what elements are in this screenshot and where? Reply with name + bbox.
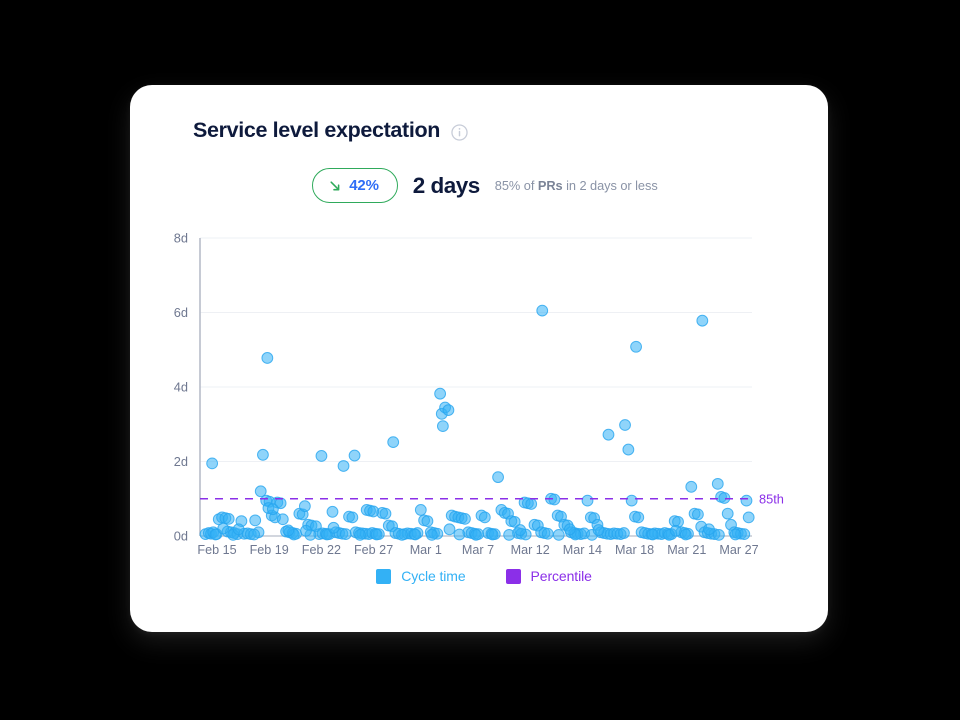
scatter-point[interactable] xyxy=(730,529,741,540)
scatter-point[interactable] xyxy=(340,529,351,540)
scatter-point[interactable] xyxy=(619,528,630,539)
scatter-point[interactable] xyxy=(493,472,504,483)
scatter-point[interactable] xyxy=(686,481,697,492)
legend-label-percentile: Percentile xyxy=(531,568,592,584)
x-axis-tick-label: Mar 12 xyxy=(511,543,550,557)
x-axis-tick-label: Mar 1 xyxy=(410,543,442,557)
scatter-point[interactable] xyxy=(582,495,593,506)
scatter-point[interactable] xyxy=(626,495,637,506)
scatter-point[interactable] xyxy=(207,458,218,469)
scatter-point[interactable] xyxy=(327,506,338,517)
scatter-point[interactable] xyxy=(460,513,471,524)
scatter-point[interactable] xyxy=(262,353,273,364)
scatter-point[interactable] xyxy=(277,514,288,525)
scatter-point[interactable] xyxy=(283,525,294,536)
slе-card: Service level expectation 42% 2 days 85%… xyxy=(130,85,828,632)
x-axis-tick-label: Feb 22 xyxy=(302,543,341,557)
scatter-point[interactable] xyxy=(422,516,433,527)
scatter-point[interactable] xyxy=(471,529,482,540)
scatter-point[interactable] xyxy=(553,529,564,540)
scatter-point[interactable] xyxy=(299,501,310,512)
scatter-point[interactable] xyxy=(722,508,733,519)
scatter-point[interactable] xyxy=(670,525,681,536)
scatter-point[interactable] xyxy=(743,512,754,523)
scatter-point[interactable] xyxy=(537,305,548,316)
y-axis-tick-label: 0d xyxy=(174,529,188,544)
scatter-point[interactable] xyxy=(388,437,399,448)
y-axis-tick-label: 4d xyxy=(174,380,188,395)
screen-root: Service level expectation 42% 2 days 85%… xyxy=(0,0,960,720)
scatter-chart: 0d2d4d6d8dFeb 15Feb 19Feb 22Feb 27Mar 1M… xyxy=(130,85,828,632)
scatter-point[interactable] xyxy=(316,451,327,462)
scatter-point[interactable] xyxy=(355,529,366,540)
x-axis-tick-label: Mar 27 xyxy=(719,543,758,557)
scatter-point[interactable] xyxy=(338,461,349,472)
scatter-point[interactable] xyxy=(713,529,724,540)
x-axis-tick-label: Feb 27 xyxy=(354,543,393,557)
chart-svg: 0d2d4d6d8dFeb 15Feb 19Feb 22Feb 27Mar 1M… xyxy=(130,85,828,632)
legend-item-cycle-time[interactable]: Cycle time xyxy=(376,568,465,584)
scatter-point[interactable] xyxy=(410,529,421,540)
chart-legend: Cycle time Percentile xyxy=(130,568,828,584)
scatter-point[interactable] xyxy=(435,388,446,399)
scatter-point[interactable] xyxy=(603,429,614,440)
scatter-point[interactable] xyxy=(443,405,454,416)
scatter-point[interactable] xyxy=(249,529,260,540)
scatter-point[interactable] xyxy=(218,523,229,534)
scatter-point[interactable] xyxy=(697,315,708,326)
scatter-point[interactable] xyxy=(479,512,490,523)
scatter-point[interactable] xyxy=(564,524,575,535)
scatter-point[interactable] xyxy=(223,513,234,524)
scatter-point[interactable] xyxy=(415,505,426,516)
legend-swatch-cycle-time xyxy=(376,569,391,584)
scatter-point[interactable] xyxy=(444,524,455,535)
x-axis-tick-label: Mar 18 xyxy=(615,543,654,557)
y-axis-tick-label: 2d xyxy=(174,454,188,469)
scatter-point[interactable] xyxy=(542,528,553,539)
x-axis-tick-label: Mar 7 xyxy=(462,543,494,557)
scatter-point[interactable] xyxy=(437,421,448,432)
legend-label-cycle-time: Cycle time xyxy=(401,568,465,584)
scatter-point[interactable] xyxy=(347,512,358,523)
scatter-point[interactable] xyxy=(623,444,634,455)
scatter-point[interactable] xyxy=(258,449,269,460)
scatter-point[interactable] xyxy=(704,524,715,535)
scatter-point[interactable] xyxy=(633,512,644,523)
scatter-point[interactable] xyxy=(515,525,526,536)
scatter-point[interactable] xyxy=(680,529,691,540)
scatter-points xyxy=(200,305,754,540)
y-axis-tick-label: 8d xyxy=(174,231,188,246)
legend-swatch-percentile xyxy=(506,569,521,584)
scatter-point[interactable] xyxy=(368,506,379,517)
x-axis-tick-label: Mar 14 xyxy=(563,543,602,557)
scatter-point[interactable] xyxy=(631,341,642,352)
x-axis-tick-label: Feb 15 xyxy=(197,543,236,557)
scatter-point[interactable] xyxy=(349,450,360,461)
scatter-point[interactable] xyxy=(267,504,278,515)
y-axis-tick-label: 6d xyxy=(174,305,188,320)
scatter-point[interactable] xyxy=(371,529,382,540)
scatter-point[interactable] xyxy=(426,529,437,540)
scatter-point[interactable] xyxy=(593,525,604,536)
scatter-point[interactable] xyxy=(397,529,408,540)
scatter-point[interactable] xyxy=(487,529,498,540)
scatter-point[interactable] xyxy=(693,509,704,520)
scatter-point[interactable] xyxy=(328,522,339,533)
scatter-point[interactable] xyxy=(526,499,537,510)
x-axis-tick-label: Feb 19 xyxy=(250,543,289,557)
scatter-point[interactable] xyxy=(620,420,631,431)
scatter-point[interactable] xyxy=(454,529,465,540)
scatter-point[interactable] xyxy=(233,524,244,535)
scatter-point[interactable] xyxy=(647,529,658,540)
percentile-line-label: 85th xyxy=(759,491,784,506)
scatter-point[interactable] xyxy=(712,478,723,489)
legend-item-percentile[interactable]: Percentile xyxy=(506,568,592,584)
scatter-point[interactable] xyxy=(504,529,515,540)
x-axis-tick-label: Mar 21 xyxy=(667,543,706,557)
scatter-point[interactable] xyxy=(741,495,752,506)
scatter-point[interactable] xyxy=(380,508,391,519)
scatter-point[interactable] xyxy=(250,515,261,526)
scatter-point[interactable] xyxy=(301,525,312,536)
